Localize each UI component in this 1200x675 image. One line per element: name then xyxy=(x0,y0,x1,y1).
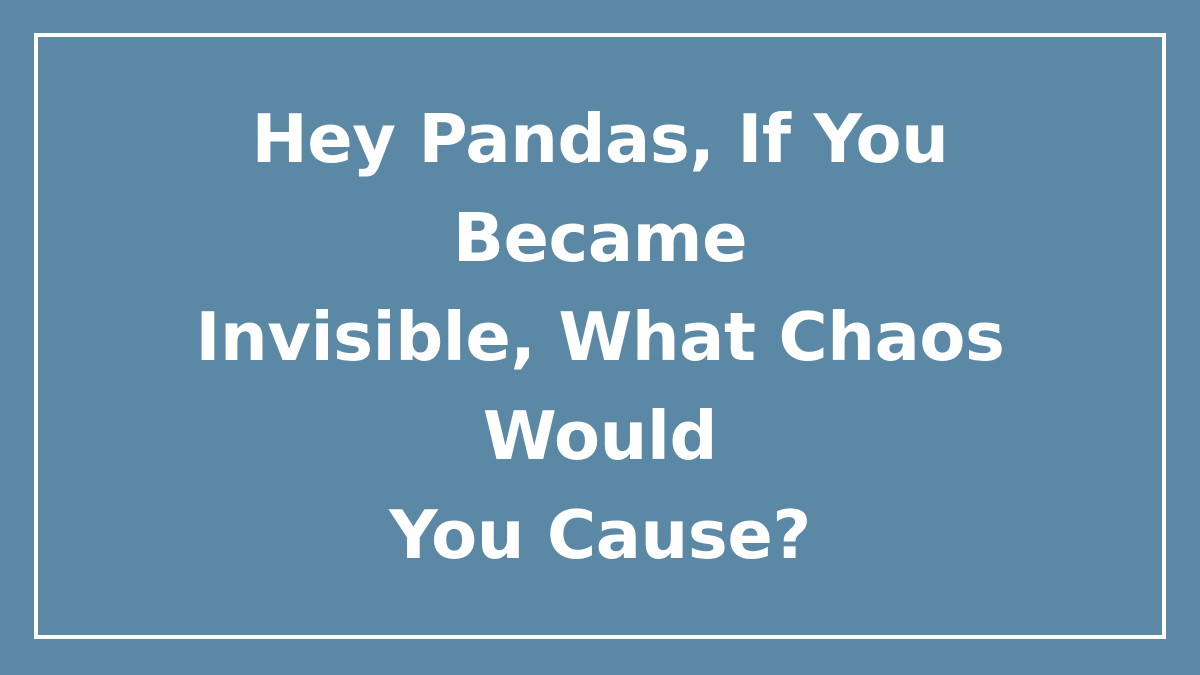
title-line-3: You Cause? xyxy=(150,486,1050,585)
page-title: Hey Pandas, If You Became Invisible, Wha… xyxy=(150,90,1050,585)
title-line-1: Hey Pandas, If You Became xyxy=(150,90,1050,288)
title-block: Hey Pandas, If You Became Invisible, Wha… xyxy=(34,0,1166,675)
post-card: Hey Pandas, If You Became Invisible, Wha… xyxy=(0,0,1200,675)
title-line-2: Invisible, What Chaos Would xyxy=(150,288,1050,486)
